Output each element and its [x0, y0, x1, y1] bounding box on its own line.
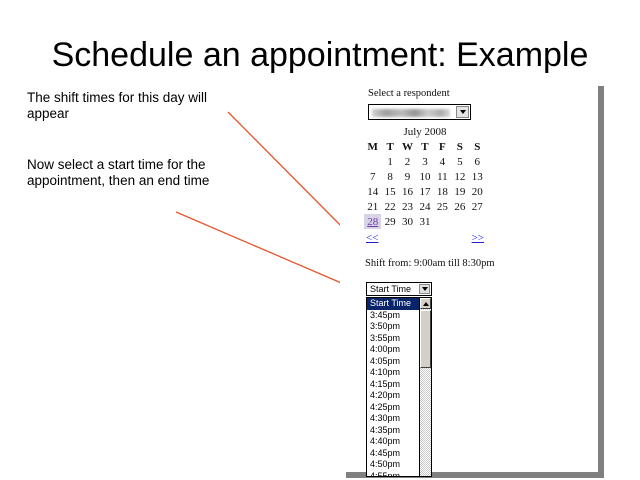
page-title: Schedule an appointment: Example — [0, 36, 640, 75]
calendar-day-cell[interactable]: 8 — [381, 169, 398, 184]
calendar-day-cell[interactable]: 6 — [469, 154, 486, 169]
calendar-day-cell[interactable]: 21 — [364, 199, 381, 214]
start-time-option-selected[interactable]: Start Time — [367, 298, 419, 310]
calendar-day-cell[interactable]: 20 — [469, 184, 486, 199]
calendar-day-cell[interactable]: 24 — [416, 199, 433, 214]
calendar-day-link[interactable]: 28 — [367, 216, 378, 228]
start-time-option[interactable]: 3:50pm — [367, 321, 419, 333]
calendar-day-cell[interactable]: 22 — [381, 199, 398, 214]
calendar-navigation: << >> — [364, 232, 486, 246]
weekday-header: S — [469, 140, 486, 154]
start-time-option[interactable]: 4:45pm — [367, 448, 419, 460]
weekday-header: F — [434, 140, 451, 154]
triangle-down-icon[interactable] — [419, 284, 430, 294]
triangle-down-icon[interactable] — [456, 106, 469, 118]
calendar-day-cell[interactable]: 15 — [381, 184, 398, 199]
calendar-empty-cell — [364, 154, 381, 169]
respondent-value-redacted — [372, 109, 450, 117]
calendar-day-cell[interactable]: 17 — [416, 184, 433, 199]
calendar-widget: July 2008 M T W T F S S 1234567891011121… — [364, 126, 486, 246]
calendar-day-cell[interactable]: 29 — [381, 214, 398, 229]
calendar-day-cell[interactable]: 11 — [434, 169, 451, 184]
calendar-week-row: 78910111213 — [364, 169, 486, 184]
arrow-to-calendar — [228, 112, 356, 241]
start-time-options[interactable]: Start Time3:45pm3:50pm3:55pm4:00pm4:05pm… — [367, 298, 419, 477]
start-time-option[interactable]: 4:25pm — [367, 402, 419, 414]
start-time-option[interactable]: 4:20pm — [367, 390, 419, 402]
calendar-day-cell[interactable]: 25 — [434, 199, 451, 214]
calendar-week-row: 28293031 — [364, 214, 486, 229]
start-time-option[interactable]: 4:30pm — [367, 413, 419, 425]
calendar-day-cell[interactable]: 30 — [399, 214, 416, 229]
weekday-header: T — [416, 140, 433, 154]
start-time-option[interactable]: 4:05pm — [367, 356, 419, 368]
calendar-day-cell[interactable]: 31 — [416, 214, 433, 229]
listbox-scrollbar[interactable] — [419, 298, 431, 476]
shift-info-text: Shift from: 9:00am till 8:30pm — [365, 258, 495, 269]
start-time-option[interactable]: 4:55pm — [367, 471, 419, 478]
respondent-select[interactable] — [368, 104, 471, 120]
calendar-day-cell[interactable]: 13 — [469, 169, 486, 184]
calendar-prev-link[interactable]: << — [366, 232, 378, 244]
screenshot-shadow-right — [598, 86, 604, 476]
calendar-day-cell[interactable]: 18 — [434, 184, 451, 199]
start-time-option[interactable]: 4:15pm — [367, 379, 419, 391]
start-time-option[interactable]: 3:55pm — [367, 333, 419, 345]
calendar-empty-cell — [434, 214, 451, 229]
calendar-day-cell[interactable]: 10 — [416, 169, 433, 184]
annotation-note-select-start: Now select a start time for the appointm… — [27, 157, 242, 189]
arrow-to-start-time — [176, 212, 360, 291]
calendar-day-cell[interactable]: 5 — [451, 154, 468, 169]
scrollbar-thumb[interactable] — [420, 310, 431, 368]
weekday-header: T — [381, 140, 398, 154]
calendar-day-cell[interactable]: 4 — [434, 154, 451, 169]
calendar-day-cell[interactable]: 26 — [451, 199, 468, 214]
calendar-empty-cell — [469, 214, 486, 229]
calendar-day-selected[interactable]: 28 — [364, 214, 381, 229]
embedded-screenshot: Select a respondent July 2008 M T W T F … — [340, 82, 598, 472]
calendar-day-cell[interactable]: 1 — [381, 154, 398, 169]
start-time-selected-value: Start Time — [370, 284, 411, 294]
calendar-day-cell[interactable]: 16 — [399, 184, 416, 199]
calendar-day-cell[interactable]: 23 — [399, 199, 416, 214]
calendar-header-row: M T W T F S S — [364, 140, 486, 154]
annotation-note-shift-times: The shift times for this day will appear — [27, 90, 242, 122]
calendar-week-row: 123456 — [364, 154, 486, 169]
weekday-header: W — [399, 140, 416, 154]
calendar-week-row: 14151617181920 — [364, 184, 486, 199]
calendar-day-cell[interactable]: 3 — [416, 154, 433, 169]
calendar-day-cell[interactable]: 19 — [451, 184, 468, 199]
start-time-option[interactable]: 4:50pm — [367, 459, 419, 471]
calendar-day-cell[interactable]: 9 — [399, 169, 416, 184]
start-time-option[interactable]: 4:10pm — [367, 367, 419, 379]
start-time-select[interactable]: Start Time — [366, 282, 432, 296]
start-time-option[interactable]: 4:40pm — [367, 436, 419, 448]
calendar-day-cell[interactable]: 12 — [451, 169, 468, 184]
start-time-option[interactable]: 4:00pm — [367, 344, 419, 356]
calendar-day-cell[interactable]: 2 — [399, 154, 416, 169]
weekday-header: M — [364, 140, 381, 154]
weekday-header: S — [451, 140, 468, 154]
start-time-option[interactable]: 3:45pm — [367, 310, 419, 322]
calendar-week-row: 21222324252627 — [364, 199, 486, 214]
respondent-label: Select a respondent — [368, 88, 450, 99]
calendar-grid: M T W T F S S 12345678910111213141516171… — [364, 140, 486, 229]
calendar-empty-cell — [451, 214, 468, 229]
calendar-body: 1234567891011121314151617181920212223242… — [364, 154, 486, 229]
calendar-next-link[interactable]: >> — [472, 232, 484, 244]
start-time-listbox[interactable]: Start Time3:45pm3:50pm3:55pm4:00pm4:05pm… — [366, 297, 432, 477]
calendar-day-cell[interactable]: 7 — [364, 169, 381, 184]
triangle-up-icon[interactable] — [420, 298, 431, 309]
calendar-day-cell[interactable]: 14 — [364, 184, 381, 199]
calendar-caption: July 2008 — [364, 126, 486, 138]
start-time-option[interactable]: 4:35pm — [367, 425, 419, 437]
calendar-day-cell[interactable]: 27 — [469, 199, 486, 214]
